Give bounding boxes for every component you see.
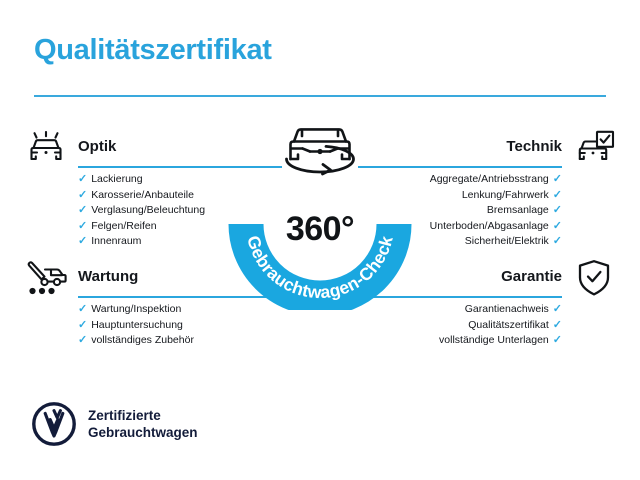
car-checkbox-icon xyxy=(570,128,618,168)
page-title: Qualitätszertifikat xyxy=(34,34,272,67)
list-item-label: Qualitätszertifikat xyxy=(468,319,549,331)
list-item-label: Aggregate/Antriebsstrang xyxy=(430,173,549,185)
footer-line-2: Gebrauchtwagen xyxy=(88,424,198,441)
check-icon: ✓ xyxy=(78,303,87,315)
list-item-label: Sicherheit/Elektrik xyxy=(465,235,549,247)
footer-line-1: Zertifizierte xyxy=(88,407,198,424)
list-item-label: Wartung/Inspektion xyxy=(91,303,181,315)
list-item: Qualitätszertifikat✓ xyxy=(358,318,562,334)
section-title-technik: Technik xyxy=(506,138,562,155)
list-item-label: Hauptuntersuchung xyxy=(91,319,183,331)
wrench-car-icon xyxy=(22,258,70,298)
list-item-label: vollständiges Zubehör xyxy=(91,334,194,346)
list-item: ✓Hauptuntersuchung xyxy=(78,318,282,334)
vw-logo xyxy=(32,402,76,446)
check-icon: ✓ xyxy=(78,173,87,185)
check-icon: ✓ xyxy=(78,319,87,331)
check-icon: ✓ xyxy=(553,189,562,201)
check-icon: ✓ xyxy=(78,235,87,247)
shield-check-icon xyxy=(570,258,618,298)
shiny-car-icon xyxy=(22,128,70,168)
check-icon: ✓ xyxy=(553,235,562,247)
list-item-label: Bremsanlage xyxy=(487,204,549,216)
title-divider xyxy=(34,95,606,97)
section-title-garantie: Garantie xyxy=(501,268,562,285)
check-icon: ✓ xyxy=(78,220,87,232)
list-item-label: Lackierung xyxy=(91,173,142,185)
list-item-label: Lenkung/Fahrwerk xyxy=(462,189,549,201)
check-icon: ✓ xyxy=(553,173,562,185)
certificate-page: Qualitätszertifikat xyxy=(0,0,640,480)
badge-center-label: 360° xyxy=(286,210,354,248)
list-item-label: Garantienachweis xyxy=(465,303,549,315)
check-icon: ✓ xyxy=(78,204,87,216)
check-icon: ✓ xyxy=(78,189,87,201)
list-item-label: vollständige Unterlagen xyxy=(439,334,549,346)
check-icon: ✓ xyxy=(553,319,562,331)
check-icon: ✓ xyxy=(553,220,562,232)
list-item-label: Felgen/Reifen xyxy=(91,220,156,232)
footer-brand: Zertifizierte Gebrauchtwagen xyxy=(32,402,198,446)
list-item-label: Karosserie/Anbauteile xyxy=(91,189,194,201)
check-icon: ✓ xyxy=(553,204,562,216)
list-item-label: Unterboden/Abgasanlage xyxy=(430,220,549,232)
rotating-car-icon xyxy=(287,129,354,174)
check-icon: ✓ xyxy=(553,334,562,346)
badge-360-gebrauchtwagen-check: Gebrauchtwagen-Check xyxy=(228,112,412,310)
section-title-wartung: Wartung xyxy=(78,268,138,285)
list-item: ✓vollständiges Zubehör xyxy=(78,333,282,349)
list-item-label: Innenraum xyxy=(91,235,141,247)
check-icon: ✓ xyxy=(78,334,87,346)
section-title-optik: Optik xyxy=(78,138,116,155)
footer-brand-text: Zertifizierte Gebrauchtwagen xyxy=(88,407,198,441)
list-item-label: Verglasung/Beleuchtung xyxy=(91,204,205,216)
list-item: vollständige Unterlagen✓ xyxy=(358,333,562,349)
check-icon: ✓ xyxy=(553,303,562,315)
